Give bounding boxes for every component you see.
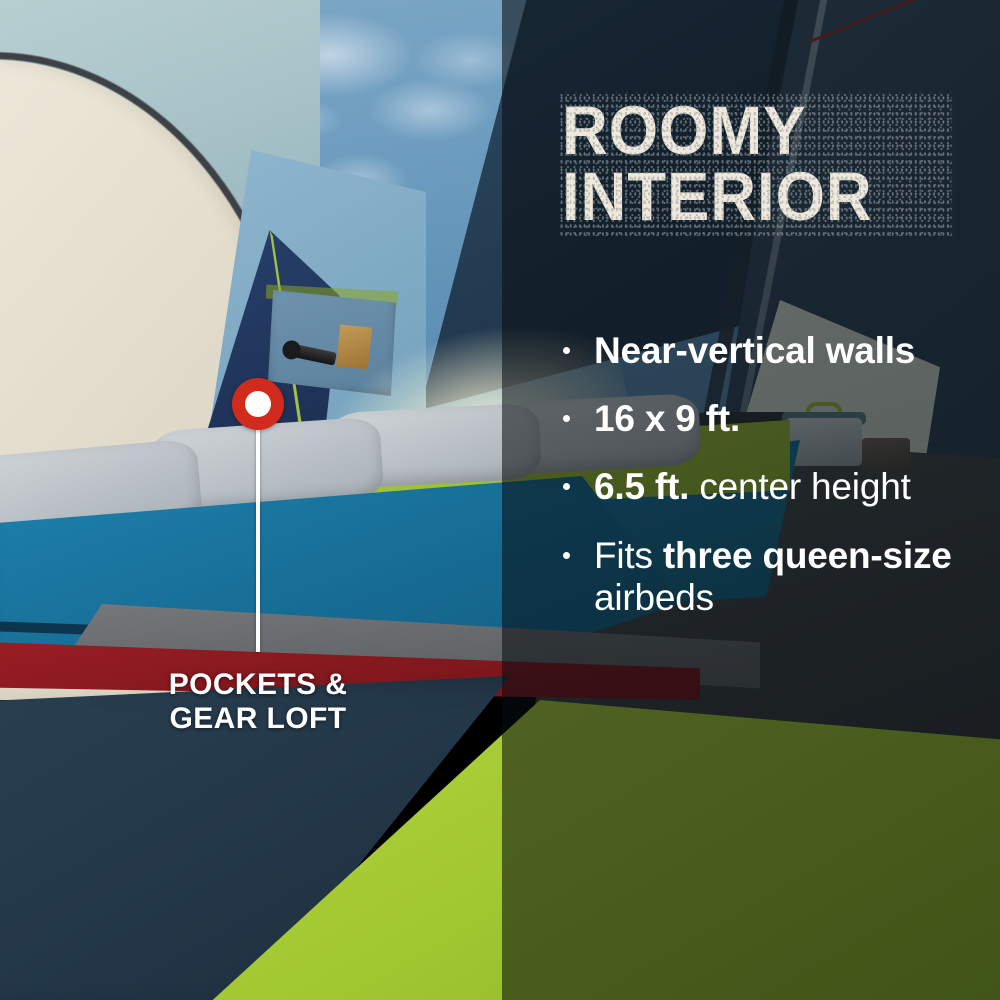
marketing-image: Coleman POCKETS & GEAR LOFT ROOM xyxy=(0,0,1000,1000)
feature-item-near-vertical-walls: Near-vertical walls xyxy=(560,330,980,372)
feature-text-regular: center height xyxy=(689,466,910,507)
feature-list: Near-vertical walls 16 x 9 ft. 6.5 ft. c… xyxy=(560,330,980,645)
callout-label-line2: GEAR LOFT xyxy=(28,702,488,736)
feature-text-bold: 6.5 ft. xyxy=(594,466,689,507)
callout-label-line1: POCKETS & xyxy=(28,668,488,702)
feature-text-bold: Near-vertical walls xyxy=(594,330,915,371)
callout-label: POCKETS & GEAR LOFT xyxy=(28,668,488,736)
feature-item-center-height: 6.5 ft. center height xyxy=(560,466,980,508)
feature-text-bold: three queen-size xyxy=(663,535,952,576)
feature-item-dimensions: 16 x 9 ft. xyxy=(560,398,980,440)
feature-text-prefix: Fits xyxy=(594,535,663,576)
bullet-dot-icon xyxy=(563,415,570,422)
bullet-dot-icon xyxy=(563,552,570,559)
map-pin-ring-icon xyxy=(232,378,284,430)
bullet-dot-icon xyxy=(563,483,570,490)
feature-text-bold: 16 x 9 ft. xyxy=(594,398,740,439)
feature-item-airbed-capacity: Fits three queen-size airbeds xyxy=(560,535,980,619)
headline: ROOMY INTERIOR xyxy=(562,98,948,230)
headline-line1: ROOMY xyxy=(562,98,948,164)
feature-text-regular: airbeds xyxy=(594,577,714,618)
bullet-dot-icon xyxy=(563,347,570,354)
headline-line2: INTERIOR xyxy=(562,164,948,230)
callout-leader-line xyxy=(256,404,260,652)
